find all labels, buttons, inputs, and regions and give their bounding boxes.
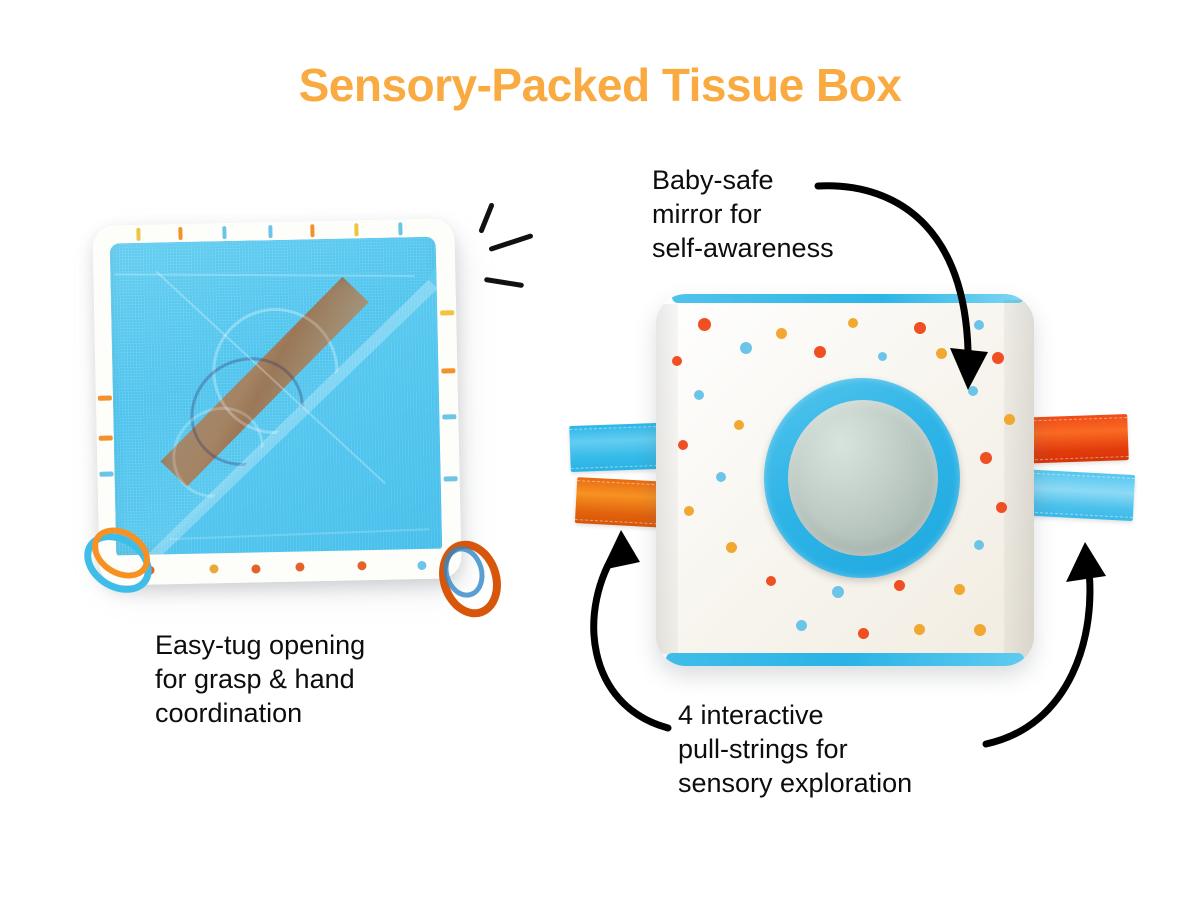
trim-mark — [441, 368, 455, 373]
trim-dot — [209, 564, 218, 573]
polka-dot — [878, 352, 887, 361]
cube-right-edge — [1004, 300, 1034, 660]
trim-mark — [98, 395, 112, 400]
polka-dot — [716, 472, 726, 482]
trim-dash — [398, 222, 402, 235]
trim-mark — [99, 471, 113, 476]
polka-dot — [740, 342, 752, 354]
trim-dash — [354, 223, 358, 236]
trim-dash — [268, 225, 272, 238]
product-image-polka-dot-mirror-cube — [648, 288, 1048, 678]
polka-dot — [698, 318, 711, 331]
polka-dot — [776, 328, 787, 339]
sparkle-mark-icon — [484, 277, 524, 288]
mirror-cube-shell — [656, 294, 1034, 666]
poster-canvas: Sensory-Packed Tissue Box — [0, 0, 1200, 900]
trim-dot — [295, 562, 304, 571]
caption-pull-strings: 4 interactive pull-strings for sensory e… — [678, 698, 1008, 800]
tissue-box-shell — [92, 218, 461, 586]
sparkle-mark-icon — [488, 233, 533, 252]
product-image-blue-tissue-box — [92, 218, 472, 600]
polka-dot — [796, 620, 807, 631]
cube-top-trim — [672, 294, 1024, 303]
trim-mark — [442, 414, 456, 419]
sparkle-mark-icon — [478, 202, 495, 234]
polka-dot — [734, 420, 744, 430]
mirror-glass — [788, 400, 938, 556]
polka-dot — [968, 386, 978, 396]
polka-dot — [726, 542, 737, 553]
polka-dot — [766, 576, 776, 586]
polka-dot — [684, 506, 694, 516]
polka-dot — [954, 584, 965, 595]
trim-dot — [251, 564, 260, 573]
polka-dot — [858, 628, 869, 639]
cube-bottom-trim — [666, 653, 1024, 666]
page-title: Sensory-Packed Tissue Box — [0, 58, 1200, 112]
caption-left-box: Easy-tug opening for grasp & hand coordi… — [155, 628, 485, 730]
caption-mirror: Baby-safe mirror for self-awareness — [652, 163, 912, 265]
polka-dot — [974, 540, 984, 550]
polka-dot — [974, 624, 986, 636]
polka-dot — [694, 390, 704, 400]
polka-dot — [996, 502, 1007, 513]
polka-dot — [678, 440, 688, 450]
polka-dot — [914, 624, 925, 635]
polka-dot — [832, 586, 844, 598]
polka-dot — [992, 352, 1004, 364]
polka-dot — [1004, 414, 1015, 425]
trim-dash — [178, 227, 182, 240]
trim-dot — [357, 561, 366, 570]
polka-dot — [814, 346, 826, 358]
trim-dot — [417, 561, 426, 570]
trim-mark — [444, 476, 458, 481]
box-blue-face — [110, 237, 443, 558]
trim-dash — [222, 226, 226, 239]
polka-dot — [672, 356, 682, 366]
trim-mark — [440, 310, 454, 315]
polka-dot — [974, 320, 984, 330]
trim-dash — [310, 224, 314, 237]
mirror-ring — [764, 378, 960, 578]
trim-mark — [99, 435, 113, 440]
polka-dot — [936, 348, 947, 359]
polka-dot — [980, 452, 992, 464]
polka-dot — [914, 322, 926, 334]
polka-dot — [848, 318, 858, 328]
trim-dash — [136, 228, 140, 241]
polka-dot — [894, 580, 905, 591]
